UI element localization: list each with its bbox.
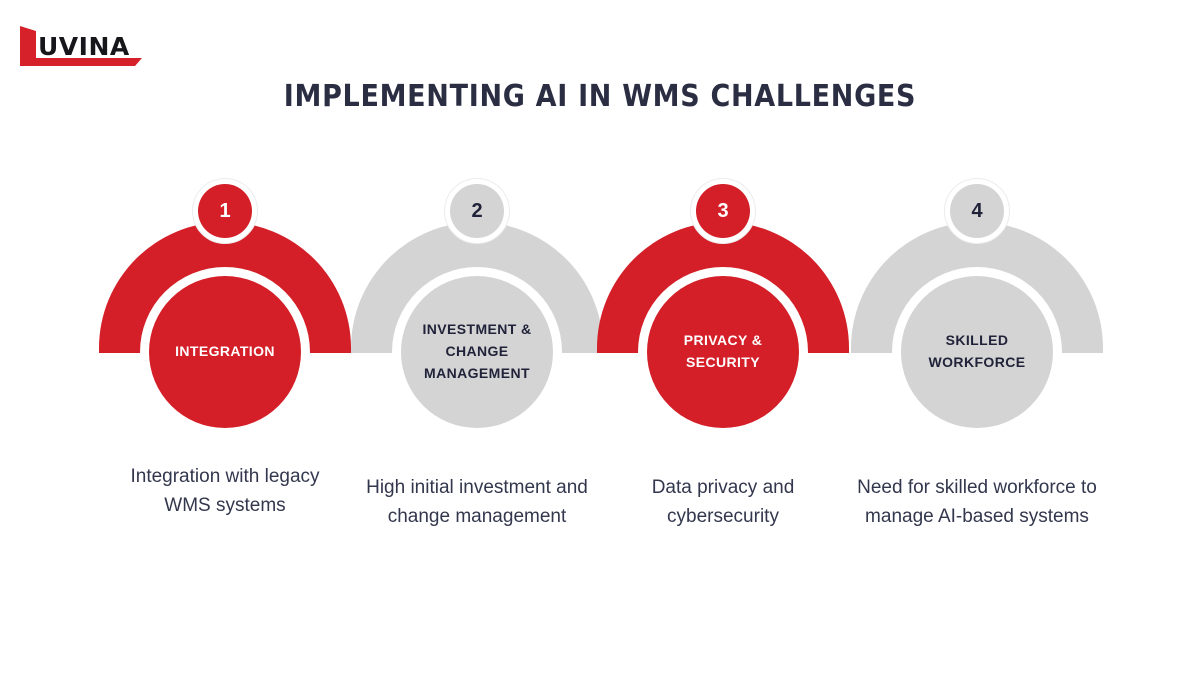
step-number-3: 3 [717, 200, 728, 223]
steps-row: INTEGRATION 1 Integration with legacy WM… [0, 0, 1200, 675]
step-number-4: 4 [971, 200, 982, 223]
step-badge-outer-4: 4 [944, 178, 1010, 244]
step-label-3: PRIVACY & SECURITY [647, 330, 799, 373]
step-badge-outer-2: 2 [444, 178, 510, 244]
infographic-slide: UVINA IMPLEMENTING AI IN WMS CHALLENGES … [0, 0, 1200, 675]
step-caption-4: Need for skilled workforce to manage AI-… [857, 474, 1097, 532]
step-graphic-3: PRIVACY & SECURITY 3 [597, 178, 849, 433]
step-graphic-2: INVESTMENT & CHANGE MANAGEMENT 2 [351, 178, 603, 433]
step-badge-3[interactable]: 3 [696, 184, 750, 238]
step-badge-outer-3: 3 [690, 178, 756, 244]
step-badge-4[interactable]: 4 [950, 184, 1004, 238]
step-disc-1[interactable]: INTEGRATION [149, 276, 301, 428]
step-label-4: SKILLED WORKFORCE [901, 330, 1053, 373]
step-caption-3: Data privacy and cybersecurity [603, 474, 843, 532]
step-item-2[interactable]: INVESTMENT & CHANGE MANAGEMENT 2 High in… [351, 0, 603, 675]
step-graphic-1: INTEGRATION 1 [99, 178, 351, 433]
step-disc-4[interactable]: SKILLED WORKFORCE [901, 276, 1053, 428]
step-badge-outer-1: 1 [192, 178, 258, 244]
step-item-1[interactable]: INTEGRATION 1 Integration with legacy WM… [99, 0, 351, 675]
step-caption-2: High initial investment and change manag… [357, 474, 597, 532]
step-item-3[interactable]: PRIVACY & SECURITY 3 Data privacy and cy… [597, 0, 849, 675]
step-caption-1: Integration with legacy WMS systems [105, 463, 345, 521]
step-number-2: 2 [471, 200, 482, 223]
step-label-2: INVESTMENT & CHANGE MANAGEMENT [401, 319, 553, 384]
step-label-1: INTEGRATION [163, 341, 287, 363]
step-badge-1[interactable]: 1 [198, 184, 252, 238]
step-graphic-4: SKILLED WORKFORCE 4 [851, 178, 1103, 433]
step-badge-2[interactable]: 2 [450, 184, 504, 238]
step-number-1: 1 [219, 200, 230, 223]
step-disc-2[interactable]: INVESTMENT & CHANGE MANAGEMENT [401, 276, 553, 428]
step-item-4[interactable]: SKILLED WORKFORCE 4 Need for skilled wor… [851, 0, 1103, 675]
step-disc-3[interactable]: PRIVACY & SECURITY [647, 276, 799, 428]
